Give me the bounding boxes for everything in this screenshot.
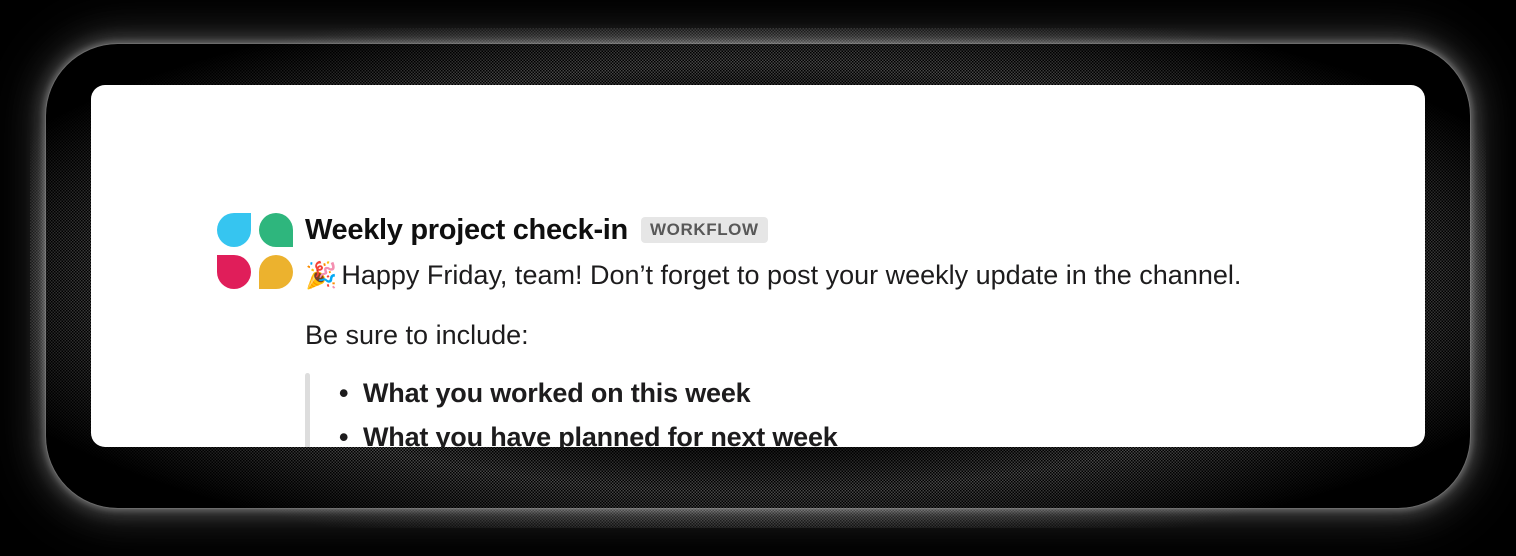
workflow-message-card: Weekly project check-in WORKFLOW 🎉Happy … bbox=[91, 85, 1425, 447]
blockquote-bar bbox=[305, 373, 310, 447]
slack-logo-quadrant-bottom-right bbox=[259, 255, 293, 289]
message-intro-text: Be sure to include: bbox=[305, 319, 529, 353]
screenshot-root: Weekly project check-in WORKFLOW 🎉Happy … bbox=[0, 0, 1516, 556]
checklist: What you worked on this week What you ha… bbox=[335, 371, 838, 447]
checklist-blockquote: What you worked on this week What you ha… bbox=[305, 371, 838, 447]
message-greeting-text: Happy Friday, team! Don’t forget to post… bbox=[341, 260, 1241, 290]
list-item: What you have planned for next week bbox=[335, 415, 838, 447]
slack-app-logo-icon bbox=[217, 213, 293, 289]
slack-logo-quadrant-top-left bbox=[217, 213, 251, 247]
party-popper-icon: 🎉 bbox=[305, 260, 337, 290]
list-item: What you worked on this week bbox=[335, 371, 838, 415]
slack-logo-quadrant-bottom-left bbox=[217, 255, 251, 289]
slack-logo-quadrant-top-right bbox=[259, 213, 293, 247]
app-title[interactable]: Weekly project check-in bbox=[305, 214, 628, 247]
workflow-badge: WORKFLOW bbox=[641, 217, 768, 243]
message-greeting-line: 🎉Happy Friday, team! Don’t forget to pos… bbox=[305, 259, 1241, 293]
message-header: Weekly project check-in WORKFLOW bbox=[305, 211, 768, 249]
